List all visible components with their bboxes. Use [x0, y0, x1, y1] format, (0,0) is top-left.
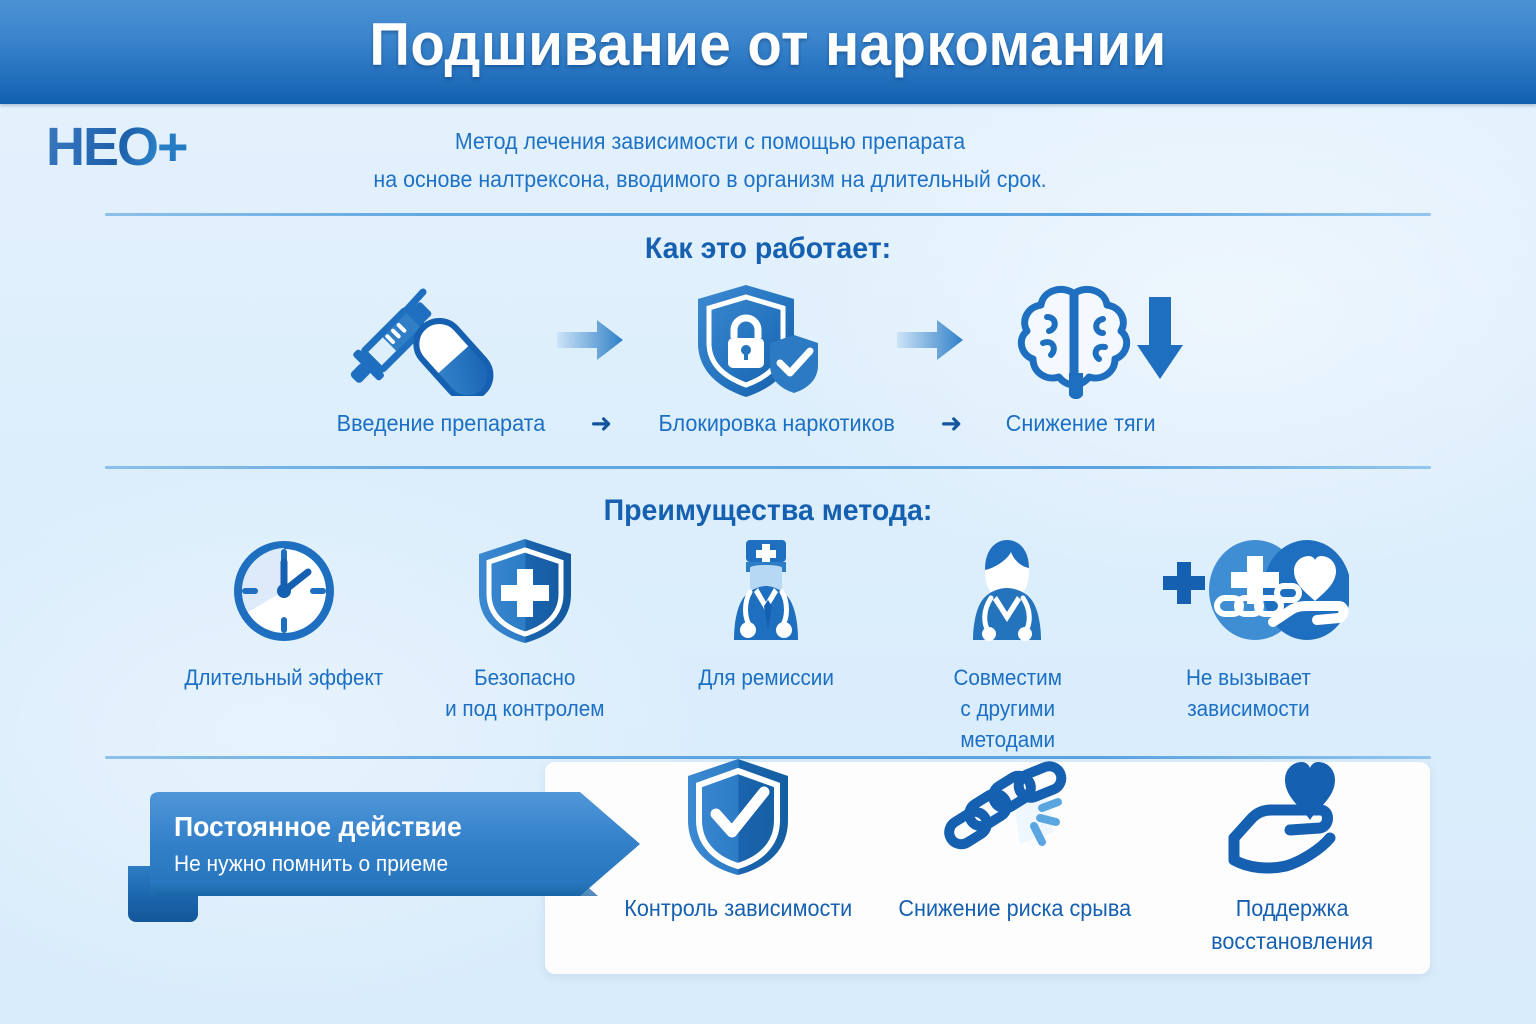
benefit-label: Не вызывает зависимости: [1186, 662, 1311, 724]
step-label-1: Введение препарата: [337, 410, 546, 437]
benefit-item: Не вызывает зависимости: [1141, 536, 1356, 724]
footer-card: Поддержка восстановления: [1167, 770, 1417, 958]
benefit-item: Длительный эффект: [176, 536, 391, 693]
benefit-label: Для ремиссии: [698, 662, 834, 693]
flow-arrow-1: [551, 317, 629, 363]
step-arrow-2-icon: ➜: [940, 410, 962, 436]
benefit-item: Совместим с другими методами: [900, 536, 1115, 755]
page-title: Подшивание от наркомании: [46, 10, 1490, 79]
clock-icon: [231, 536, 337, 646]
shield-lock-icon: [670, 281, 850, 399]
how-it-works-icons: [330, 280, 1190, 400]
footer-card-label: Снижение риска срыва: [899, 892, 1132, 925]
footer-ribbon: Постоянное действие Не нужно помнить о п…: [128, 792, 648, 922]
brand-logo: НЕО+: [46, 116, 246, 178]
syringe-capsule-icon: [330, 281, 510, 399]
benefits-heading: Преимущества метода:: [38, 494, 1497, 528]
step-label-3: Снижение тяги: [1005, 410, 1155, 437]
infographic-root: Подшивание от наркомании НЕО+ Метод лече…: [0, 0, 1536, 1024]
step-arrow-1-icon: ➜: [590, 410, 612, 436]
flow-arrow-2: [891, 317, 969, 363]
footer-card: Контроль зависимости: [613, 770, 863, 925]
benefit-label: Длительный эффект: [184, 662, 383, 693]
broken-chain-icon: [942, 770, 1088, 878]
divider-top: [105, 213, 1431, 216]
ribbon-text: Постоянное действие Не нужно помнить о п…: [174, 808, 574, 880]
ribbon-title: Постоянное действие: [174, 808, 554, 846]
doctor-nurse-icon: [712, 536, 820, 646]
how-it-works-labels: Введение препарата ➜ Блокировка наркотик…: [330, 405, 1160, 441]
intro-line-2: на основе налтрексона, вводимого в орган…: [319, 160, 1100, 198]
benefits-list: Длительный эффект Безопасно и под контро…: [176, 536, 1356, 736]
benefit-label: Совместим с другими методами: [953, 662, 1061, 755]
step-label-2: Блокировка наркотиков: [658, 410, 894, 437]
footer-card-label: Контроль зависимости: [624, 892, 852, 925]
shield-cross-icon: [474, 536, 576, 646]
how-it-works-heading: Как это работает:: [38, 232, 1497, 266]
ribbon-subtitle: Не нужно помнить о приеме: [174, 848, 554, 880]
intro-text: Метод лечения зависимости с помощью преп…: [319, 122, 1100, 198]
shield-check-icon: [682, 770, 794, 878]
page-header: Подшивание от наркомании: [0, 0, 1536, 104]
benefit-item: Безопасно и под контролем: [417, 536, 632, 724]
heart-in-hand-icon: [1226, 770, 1358, 878]
doctor-stethoscope-icon: [953, 536, 1061, 646]
chain-heart-hand-icon: [1149, 536, 1349, 646]
divider-middle: [105, 466, 1431, 469]
benefit-item: Для ремиссии: [659, 536, 874, 693]
footer-card: Снижение риска срыва: [890, 770, 1140, 925]
intro-line-1: Метод лечения зависимости с помощью преп…: [455, 128, 965, 154]
footer-card-label: Поддержка восстановления: [1211, 892, 1373, 958]
brain-down-arrow-icon: [1010, 281, 1190, 399]
footer-cards: Контроль зависимости: [600, 770, 1430, 970]
benefit-label: Безопасно и под контролем: [445, 662, 604, 724]
